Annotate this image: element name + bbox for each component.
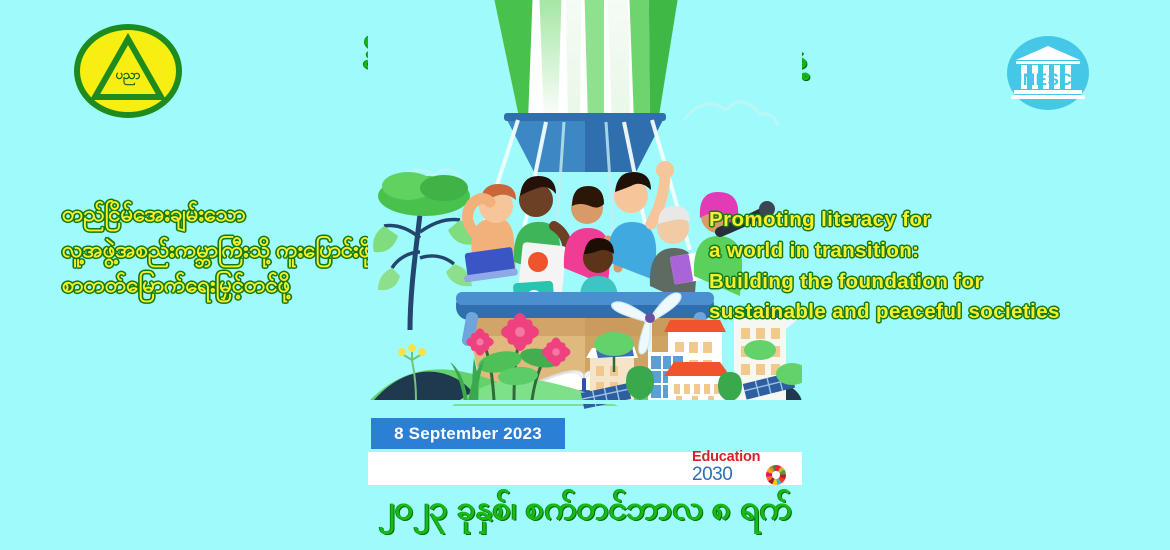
date-badge: 8 September 2023 [371,418,565,449]
theme-line-1: Promoting literacy for [709,205,1170,236]
date-burmese: ၂၀၂၃ ခုနှစ်၊ စက်တင်ဘာလ ၈ ရက် [0,487,1170,536]
svg-text:UNESCO: UNESCO [1010,70,1086,89]
poster-canvas: ပညာ နိုင်ငံတကာစာတတ်မြောက်ရေးနေ့ UNESCO တ… [0,0,1170,550]
theme-line-2: a world in transition: [709,236,1170,267]
sdg-color-wheel-icon [766,465,786,485]
education-2030-logo: Education 2030 [692,450,784,484]
unesco-logo-icon: UNESCO [1000,30,1096,116]
theme-line-3: Building the foundation for [709,267,1170,298]
theme-line-4: sustainable and peaceful societies [709,297,1170,328]
education-2030-top-label: Education [692,450,784,465]
theme-english: Promoting literacy for a world in transi… [709,205,1170,328]
